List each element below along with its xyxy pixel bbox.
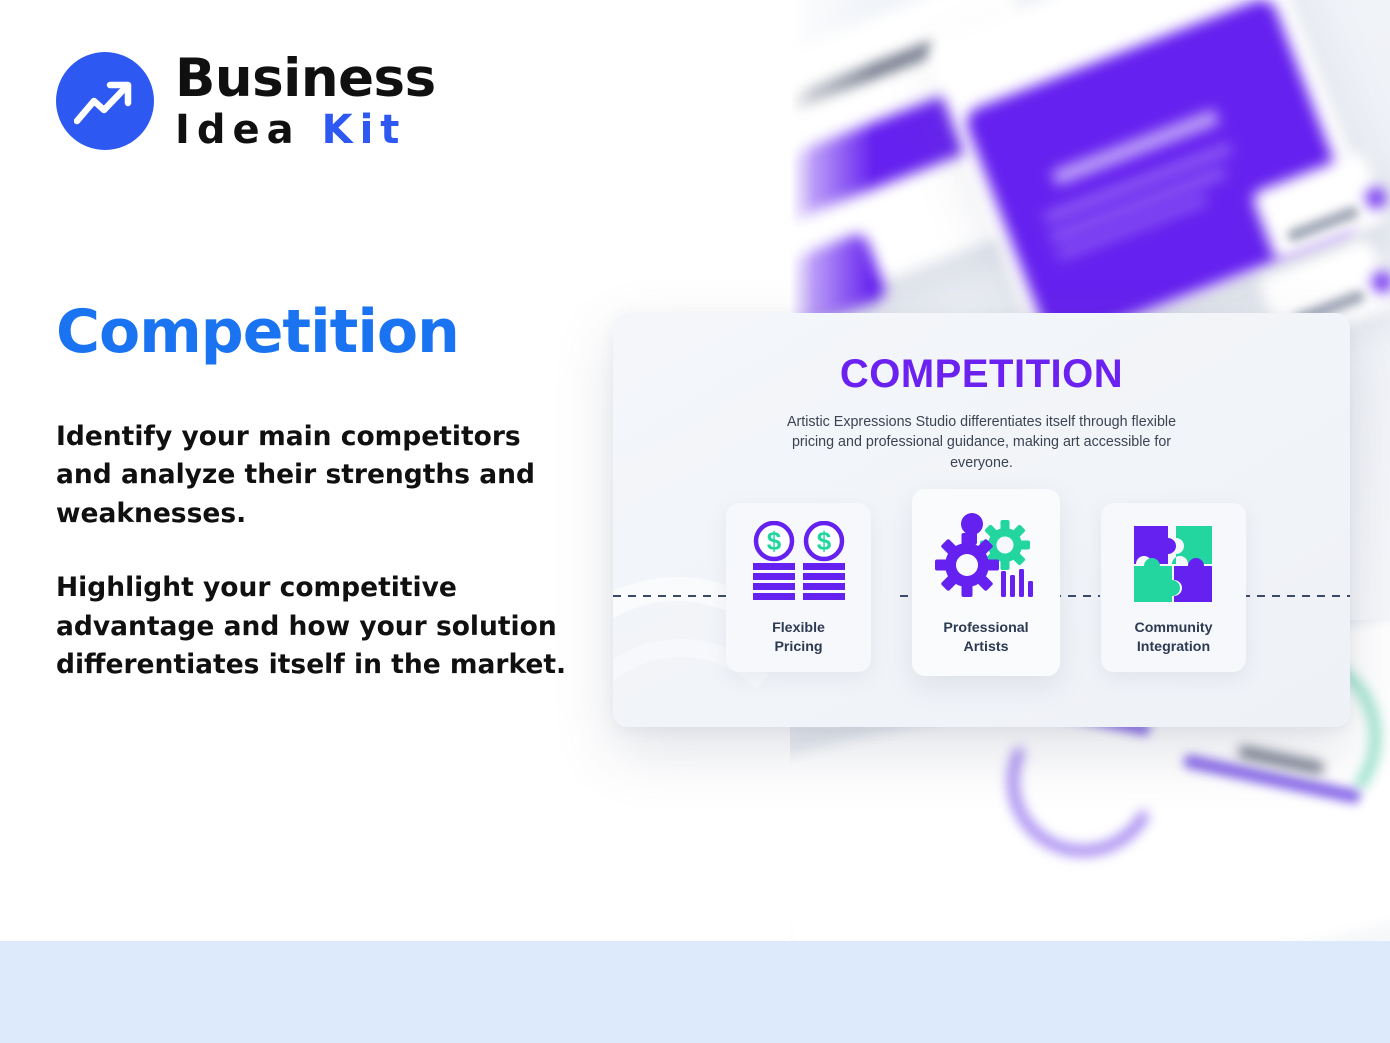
dashed-segment-left	[613, 595, 741, 597]
dashed-segment-right	[1242, 595, 1350, 597]
slide-page: Business Idea Kit Competition Identify y…	[0, 0, 1390, 1043]
brand-name-line1: Business	[175, 52, 436, 105]
preview-description: Artistic Expressions Studio differentiat…	[782, 412, 1182, 473]
brand-logo: Business Idea Kit	[56, 52, 436, 150]
feature-card-flexible-pricing[interactable]: $ $	[726, 503, 871, 672]
puzzle-pieces-icon	[1128, 519, 1220, 609]
body-paragraph-1: Identify your main competitors and analy…	[56, 418, 576, 533]
feature-label-line1: Flexible	[772, 620, 825, 636]
bottom-color-band	[0, 941, 1390, 1043]
feature-label-line2: Pricing	[774, 639, 822, 655]
body-text-block: Identify your main competitors and analy…	[56, 418, 576, 685]
feature-card-group: $ $	[726, 503, 1246, 676]
brand-name-kit: Kit	[322, 107, 407, 153]
trend-arrow-icon	[56, 52, 154, 150]
body-paragraph-2: Highlight your competitive advantage and…	[56, 569, 576, 684]
svg-text:$: $	[766, 526, 781, 556]
feature-card-community-integration[interactable]: Community Integration	[1101, 503, 1246, 672]
feature-label-line2: Integration	[1137, 639, 1210, 655]
preview-title: COMPETITION	[613, 352, 1350, 397]
feature-label-line1: Professional	[943, 620, 1028, 636]
page-title: Competition	[56, 297, 459, 367]
gears-lightbulb-chart-icon	[931, 509, 1041, 609]
slide-preview-card[interactable]: COMPETITION Artistic Expressions Studio …	[613, 313, 1350, 727]
brand-name-line2: Idea Kit	[175, 110, 436, 150]
svg-text:$: $	[816, 526, 831, 556]
feature-card-professional-artists[interactable]: Professional Artists	[912, 489, 1060, 676]
brand-name-idea: Idea	[175, 107, 301, 153]
feature-label-line2: Artists	[964, 639, 1009, 655]
feature-label-community-integration: Community Integration	[1134, 619, 1212, 656]
feature-label-flexible-pricing: Flexible Pricing	[772, 619, 825, 656]
feature-label-professional-artists: Professional Artists	[943, 619, 1028, 656]
coin-stacks-icon: $ $	[746, 519, 852, 609]
feature-label-line1: Community	[1134, 620, 1212, 636]
